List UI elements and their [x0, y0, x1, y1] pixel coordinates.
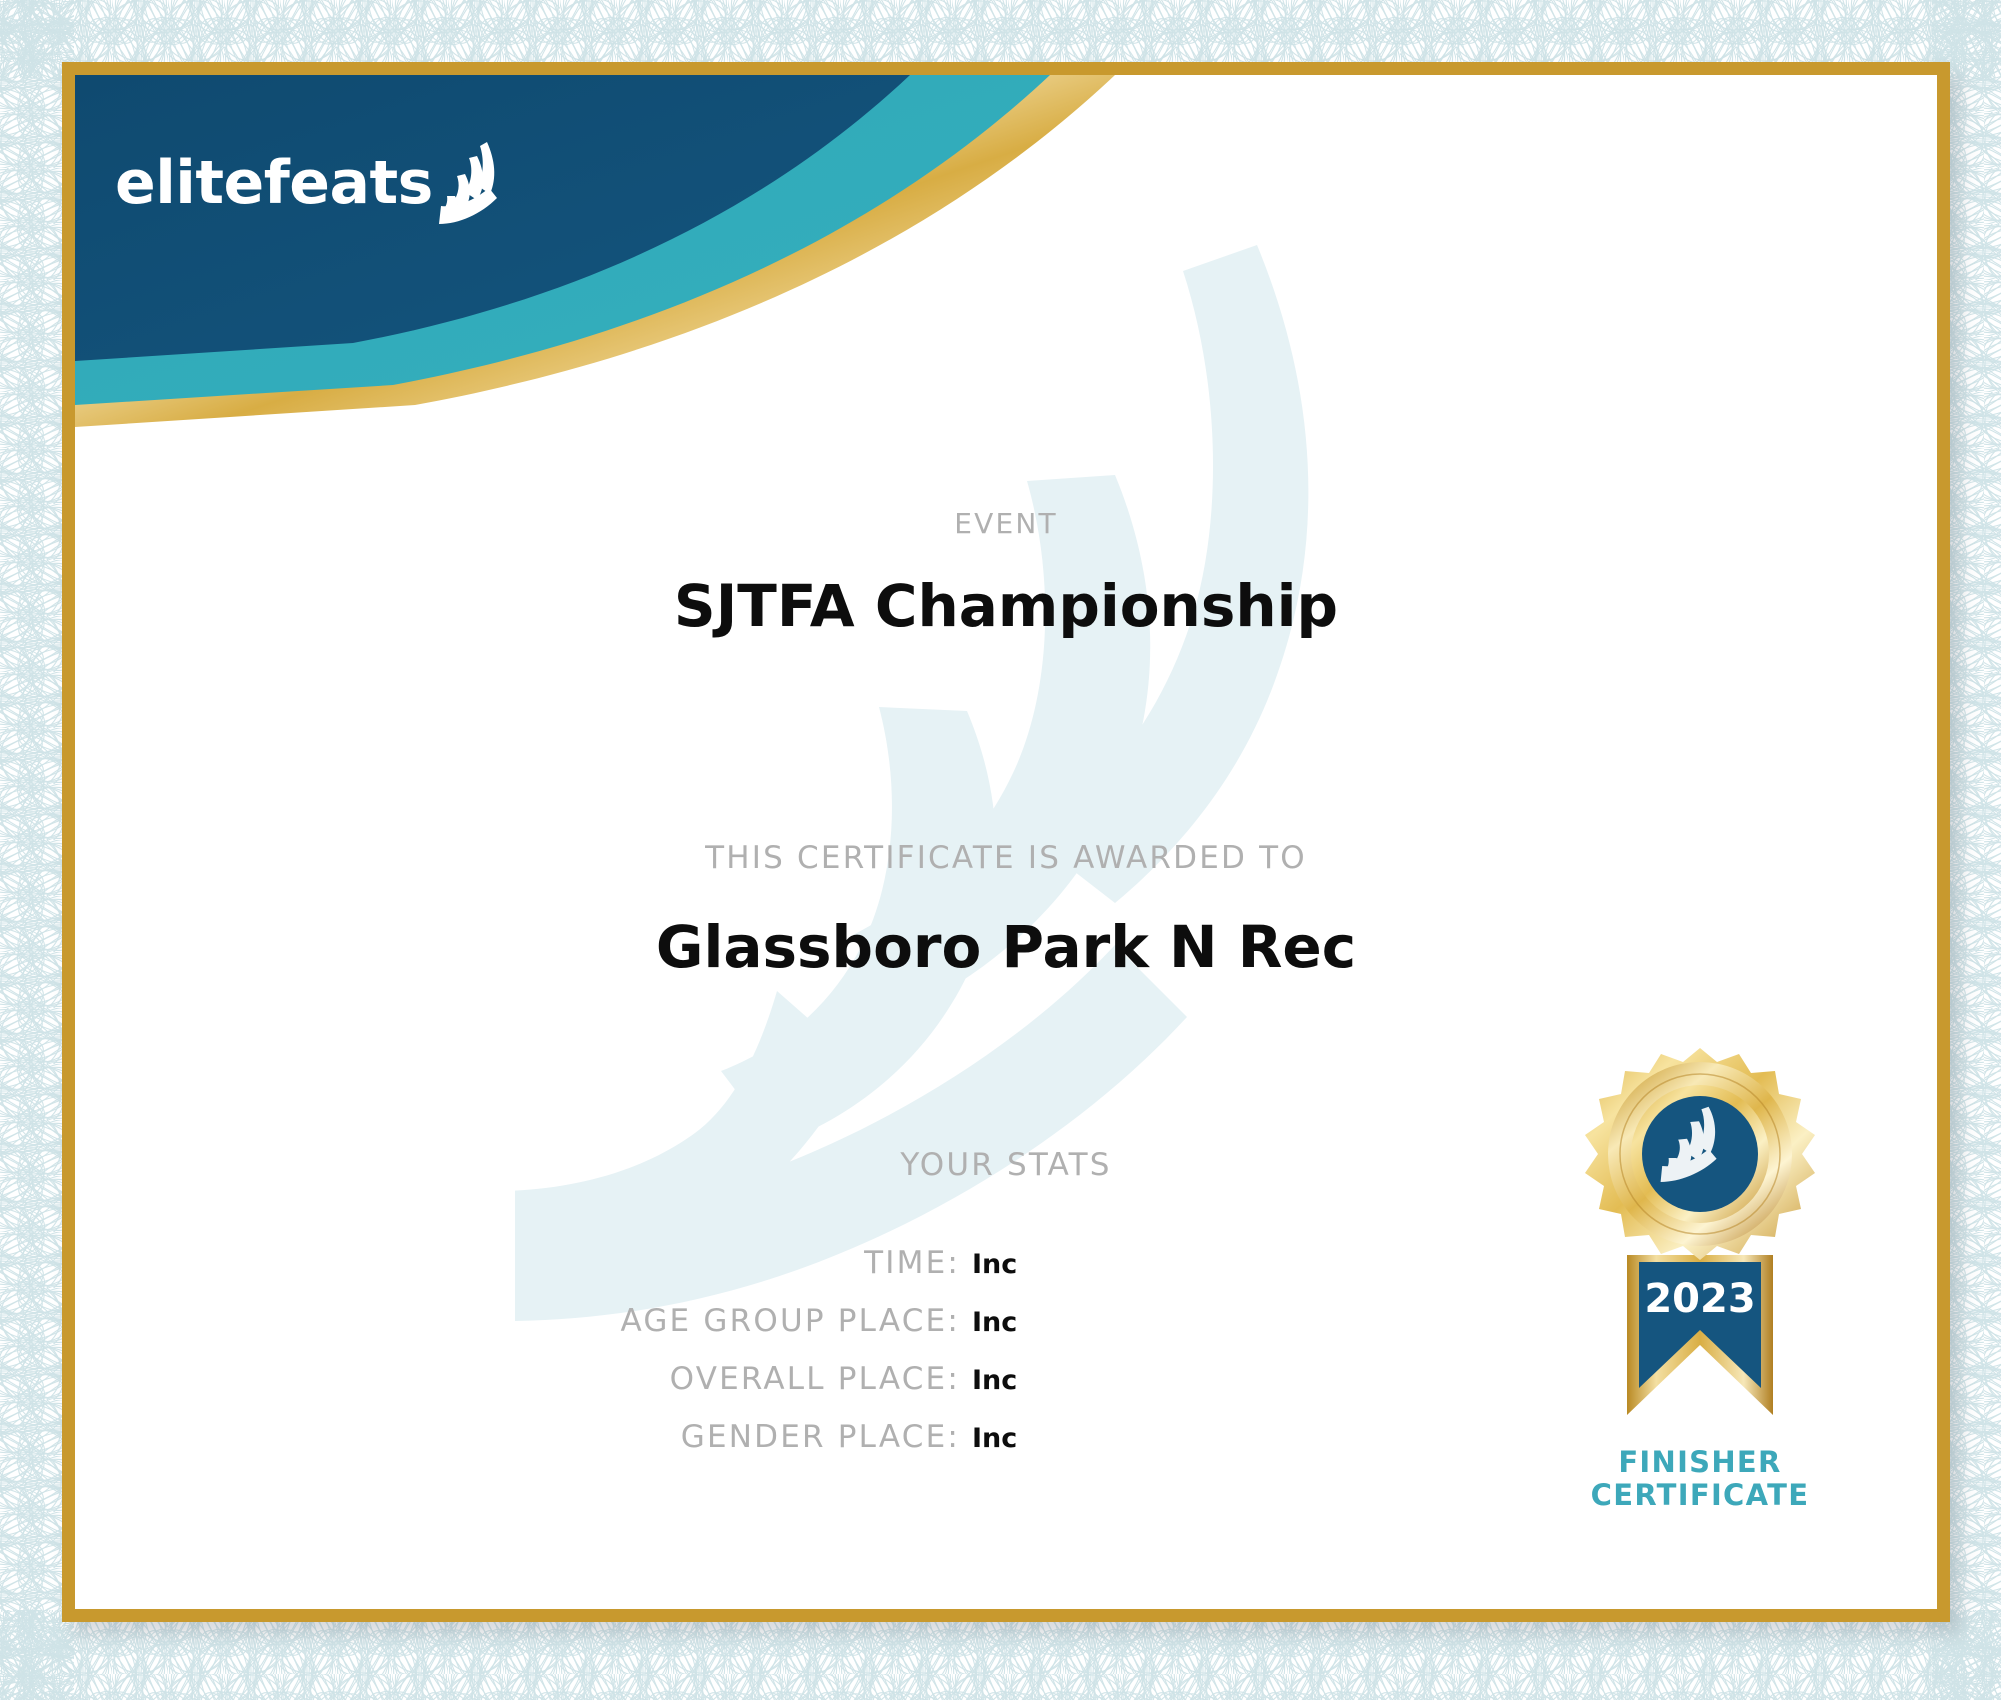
stat-value-overall-place: Inc — [960, 1365, 1080, 1396]
stat-value-gender-place: Inc — [960, 1423, 1080, 1454]
stat-label-overall-place: OVERALL PLACE: — [670, 1361, 960, 1397]
stat-row-time: TIME: Inc — [75, 1245, 1080, 1303]
finisher-medal-badge: 2023 FINISHER CERTIFICATE — [1535, 1040, 1865, 1512]
awarded-to-label: THIS CERTIFICATE IS AWARDED TO — [75, 840, 1937, 876]
certificate-page: elitefeats EVENT SJTFA Championship THIS… — [0, 0, 2001, 1700]
award-medal-ribbon-icon: 2023 — [1555, 1040, 1845, 1440]
event-name: SJTFA Championship — [75, 572, 1937, 640]
medal-year: 2023 — [1644, 1276, 1755, 1322]
stats-list: TIME: Inc AGE GROUP PLACE: Inc OVERALL P… — [75, 1245, 1080, 1477]
certificate-card: elitefeats EVENT SJTFA Championship THIS… — [62, 62, 1950, 1622]
stat-row-gender-place: GENDER PLACE: Inc — [75, 1419, 1080, 1477]
finisher-caption-line2: CERTIFICATE — [1535, 1479, 1865, 1512]
stat-value-time: Inc — [960, 1249, 1080, 1280]
stat-row-age-group-place: AGE GROUP PLACE: Inc — [75, 1303, 1080, 1361]
stat-label-gender-place: GENDER PLACE: — [681, 1419, 960, 1455]
stat-label-age-group-place: AGE GROUP PLACE: — [620, 1303, 960, 1339]
stat-row-overall-place: OVERALL PLACE: Inc — [75, 1361, 1080, 1419]
event-label: EVENT — [75, 507, 1937, 540]
stat-label-time: TIME: — [864, 1245, 960, 1281]
stat-value-age-group-place: Inc — [960, 1307, 1080, 1338]
recipient-name: Glassboro Park N Rec — [75, 913, 1937, 981]
finisher-certificate-caption: FINISHER CERTIFICATE — [1535, 1446, 1865, 1512]
finisher-caption-line1: FINISHER — [1535, 1446, 1865, 1479]
